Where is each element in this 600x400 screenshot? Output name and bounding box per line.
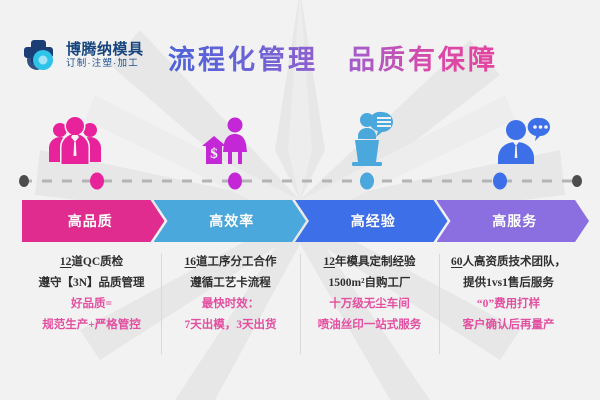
detail-columns: 12道QC质检 遵守【3N】品质管理 好品质= 规范生产+严格管控 16道工序分…: [22, 252, 578, 372]
detail-line-2: 提供1vs1售后服务: [445, 273, 572, 294]
svg-text:$: $: [210, 146, 218, 162]
banner-segment-label: 高效率: [209, 211, 254, 231]
detail-line-3: 最快时效：: [167, 294, 294, 315]
detail-line-2: 遵循工艺卡流程: [167, 273, 294, 294]
timeline-dot-service: [493, 173, 507, 190]
infographic-poster: 博腾纳模具 订制·注塑·加工 流程化管理 品质有保障: [0, 0, 600, 400]
timeline-dot-end: [572, 175, 582, 187]
detail-line-1-rest: 道QC质检: [71, 256, 123, 268]
timeline-track: [0, 170, 600, 192]
detail-column-service: 60人高资质技术团队， 提供1vs1售后服务 “0”费用打样 客户确认后再量产: [439, 252, 578, 372]
detail-line-4: 7天出模，3天出货: [167, 315, 294, 336]
detail-line-3: “0”费用打样: [445, 294, 572, 315]
banner-segment-label: 高品质: [68, 211, 113, 231]
timeline-dot-quality: [90, 173, 104, 190]
detail-line-1-rest: 年模具定制经验: [335, 256, 416, 268]
banner-segment-service[interactable]: 高服务: [437, 200, 590, 242]
icon-cell-experience: [300, 100, 450, 170]
detail-lead-number: 60: [451, 256, 463, 268]
person-chat-icon: [494, 112, 556, 170]
timeline-dot-start: [19, 175, 29, 187]
detail-line-4: 规范生产+严格管控: [28, 315, 155, 336]
detail-line-3: 十万级无尘车间: [306, 294, 433, 315]
detail-line-4: 客户确认后再量产: [445, 315, 572, 336]
detail-lead-number: 12: [324, 256, 336, 268]
banner-segment-efficiency[interactable]: 高效率: [154, 200, 307, 242]
detail-lead-number: 16: [185, 256, 197, 268]
detail-line-2: 遵守【3N】品质管理: [28, 273, 155, 294]
detail-column-efficiency: 16道工序分工合作 遵循工艺卡流程 最快时效： 7天出模，3天出货: [161, 252, 300, 372]
logo-company-name: 博腾纳模具: [66, 41, 144, 58]
page-title: 流程化管理 品质有保障: [168, 38, 498, 77]
banner-segment-label: 高服务: [492, 211, 537, 231]
logo-tagline: 订制·注塑·加工: [66, 58, 144, 70]
detail-line-1: 12年模具定制经验: [306, 252, 433, 273]
chevron-banner: 高品质 高效率 高经验 高服务: [22, 200, 578, 242]
detail-lead-number: 12: [60, 256, 72, 268]
detail-line-1: 16道工序分工合作: [167, 252, 294, 273]
detail-line-1: 12道QC质检: [28, 252, 155, 273]
icon-cell-quality: [0, 100, 150, 170]
banner-segment-label: 高经验: [351, 211, 396, 231]
detail-line-1: 60人高资质技术团队，: [445, 252, 572, 273]
people-group-icon: [44, 110, 106, 170]
timeline-dot-efficiency: [228, 173, 242, 190]
detail-line-4: 喷油丝印一站式服务: [306, 315, 433, 336]
icon-cell-efficiency: $: [150, 100, 300, 170]
house-money-person-icon: $: [194, 110, 256, 170]
brand-logo[interactable]: 博腾纳模具 订制·注塑·加工: [22, 36, 144, 74]
detail-line-1-rest: 人高资质技术团队，: [463, 256, 567, 268]
detail-line-3: 好品质=: [28, 294, 155, 315]
detail-line-1-rest: 道工序分工合作: [196, 256, 277, 268]
droplet-cross-logo-icon: [22, 36, 62, 74]
detail-column-experience: 12年模具定制经验 1500m²自购工厂 十万级无尘车间 喷油丝印一站式服务: [300, 252, 439, 372]
timeline-dot-experience: [360, 173, 374, 190]
icons-row: $: [0, 100, 600, 170]
detail-line-2: 1500m²自购工厂: [306, 273, 433, 294]
detail-column-quality: 12道QC质检 遵守【3N】品质管理 好品质= 规范生产+严格管控: [22, 252, 161, 372]
banner-segment-experience[interactable]: 高经验: [295, 200, 448, 242]
banner-segment-quality[interactable]: 高品质: [22, 200, 165, 242]
icon-cell-service: [450, 100, 600, 170]
speaker-podium-icon: [344, 108, 406, 170]
header: 博腾纳模具 订制·注塑·加工 流程化管理 品质有保障: [0, 0, 600, 95]
